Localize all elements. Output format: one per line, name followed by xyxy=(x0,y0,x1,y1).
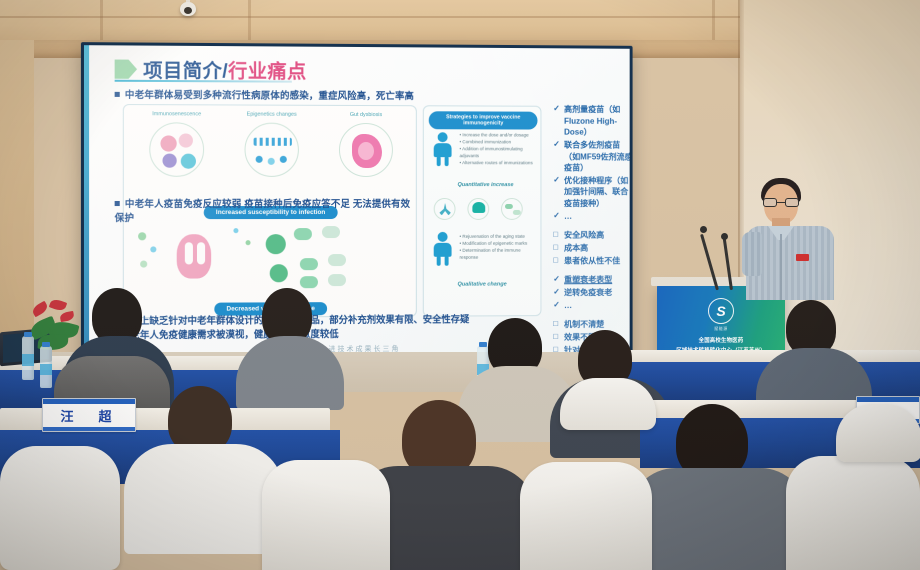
quant-bullet: Combined immunization xyxy=(462,139,511,144)
figure-cell: Immunosenescence xyxy=(132,111,221,176)
right-item: 逆转免疫衰老 xyxy=(553,287,629,299)
wall-seam xyxy=(712,0,715,42)
slide-bullet-2: 中老年人疫苗免疫反应较弱 疫苗接种后免疫应答不足 无法提供有效保护 xyxy=(115,197,417,225)
right-item: 重塑衰老表型 xyxy=(553,274,629,286)
bullet-square-icon xyxy=(115,201,120,206)
figure-bottom-row xyxy=(132,224,410,295)
strategies-card: Strategies to improve vaccine immunogeni… xyxy=(423,105,542,316)
antibody-icon xyxy=(434,198,456,220)
chair xyxy=(560,378,656,430)
figure-caption: Epigenetics changes xyxy=(227,111,316,118)
slide-bullet-1-text: 中老年群体易受到多种流行性病原体的感染，重症风险高，死亡率高 xyxy=(125,89,414,101)
heart-hand-icon xyxy=(467,198,489,220)
microphone-head-icon xyxy=(700,226,707,233)
speaker-pocket-logo xyxy=(796,254,809,261)
figure-top-row: Immunosenescence Epigenetics changes xyxy=(132,111,410,177)
quant-bullet: Increase the dose and/or dosage xyxy=(462,132,528,137)
presentation-slide: 项目简介/行业痛点 中老年群体易受到多种流行性病原体的感染，重症风险高，死亡率高… xyxy=(84,45,630,359)
figure-caption: Immunosenescence xyxy=(132,111,221,118)
right-item: 成本高 xyxy=(553,243,629,255)
bullet-square-icon xyxy=(115,92,120,97)
qualitative-label: Qualitative change xyxy=(458,281,507,287)
wall-seam xyxy=(100,0,103,42)
check-icon xyxy=(553,275,560,285)
wall-seam xyxy=(248,0,251,42)
figure-cell: Epigenetics changes xyxy=(227,111,316,176)
attendee-shoulders xyxy=(628,468,808,570)
slide-bullet-1: 中老年群体易受到多种流行性病原体的感染，重症风险高，死亡率高 xyxy=(115,88,417,103)
check-icon xyxy=(553,139,560,149)
gut-illustration xyxy=(339,123,393,177)
right-item: 高剂量疫苗（如Fluzone High-Dose） xyxy=(553,104,629,139)
chevron-icon xyxy=(115,60,137,79)
check-icon xyxy=(553,175,560,185)
qualitative-bullets: • Rejuvenation of the aging state • Modi… xyxy=(460,234,537,262)
strategies-header: Strategies to improve vaccine immunogeni… xyxy=(429,111,538,129)
figure-caption: Gut dysbiosis xyxy=(322,112,410,119)
person-celebrating-icon xyxy=(432,232,454,266)
cells-illustration xyxy=(149,122,204,177)
name-card-text: 汪 超 xyxy=(43,404,135,427)
dna-illustration xyxy=(245,122,299,176)
podium-line-1: 全国高校生物医药 xyxy=(657,336,785,344)
checkbox-icon xyxy=(553,230,560,240)
check-icon xyxy=(553,211,560,221)
logo-subtext: 赋能源 xyxy=(714,326,728,332)
logo-glyph: S xyxy=(716,303,725,319)
quantitative-label: Quantitative increase xyxy=(458,182,514,188)
qual-bullet: Determination of the immune response xyxy=(460,247,521,259)
water-bottle xyxy=(22,336,34,380)
eyeglasses-icon xyxy=(763,198,799,207)
right-item: 安全风险高 xyxy=(553,230,629,242)
name-card-bottom-bar xyxy=(43,427,135,431)
speaker-presenter xyxy=(742,176,838,300)
organization-logo-icon: S xyxy=(708,298,734,324)
right-item: 优化接种程序（如加强针间隔、联合疫苗接种） xyxy=(553,175,629,210)
speaker-sleeve xyxy=(742,232,762,276)
slide-bullet-2-text: 中老年人疫苗免疫反应较弱 疫苗接种后免疫应答不足 无法提供有效保护 xyxy=(115,198,411,223)
microphone-head-icon xyxy=(721,233,728,240)
qual-bullet: Modification of epigenetic marks xyxy=(462,241,527,246)
chair xyxy=(262,460,390,570)
figure-cell: Gut dysbiosis xyxy=(322,112,410,177)
checkbox-icon xyxy=(553,255,560,265)
attendee-shoulders xyxy=(236,336,344,410)
capsule-icon xyxy=(501,198,523,220)
right-item: 联合多佐剂疫苗（如MF59佐剂流感疫苗） xyxy=(553,139,629,174)
quant-bullet: Addition of immunostimulating adjuvants xyxy=(460,146,523,158)
chair xyxy=(0,446,120,570)
check-icon xyxy=(553,287,560,297)
quant-bullet: Alternative routes of immunizations xyxy=(462,160,533,165)
person-standing-icon xyxy=(432,132,454,166)
quantitative-bullets: • Increase the dose and/or dosage • Comb… xyxy=(460,132,537,166)
chair xyxy=(786,456,920,570)
checkbox-icon xyxy=(553,243,560,253)
chair xyxy=(836,404,920,462)
speaker-shirt-placket xyxy=(780,234,782,300)
conference-room-photo: 项目简介/行业痛点 中老年群体易受到多种流行性病原体的感染，重症风险高，死亡率高… xyxy=(0,0,920,570)
attendee-shoulders xyxy=(124,444,284,554)
security-camera-icon xyxy=(180,2,196,16)
name-card: 汪 超 xyxy=(42,398,136,432)
right-item: 患者依从性不佳 xyxy=(553,255,629,267)
right-item: … xyxy=(553,211,629,223)
water-bottle xyxy=(40,346,52,388)
qual-bullet: Rejuvenation of the aging state xyxy=(462,234,525,239)
chair xyxy=(520,462,652,570)
right-item: … xyxy=(553,299,629,311)
check-icon xyxy=(553,300,560,310)
check-icon xyxy=(553,104,560,114)
projection-screen: 项目简介/行业痛点 中老年群体易受到多种流行性病原体的感染，重症风险高，死亡率高… xyxy=(81,42,633,362)
